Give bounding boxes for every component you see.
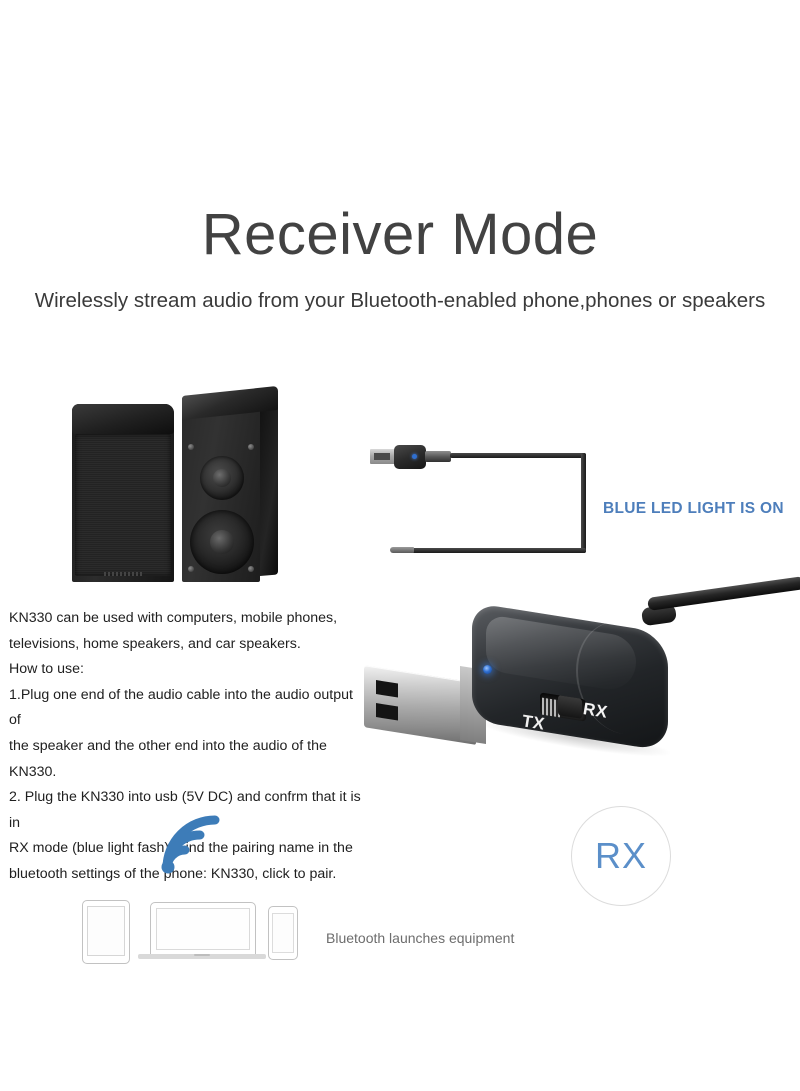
mini-led-indicator (412, 454, 417, 459)
rx-mode-badge: RX (571, 806, 671, 906)
page-title: Receiver Mode (0, 206, 800, 264)
speaker-grille (75, 434, 171, 576)
instruction-line: the speaker and the other end into the a… (9, 734, 365, 785)
cable-strain-relief (425, 451, 451, 462)
laptop-base-notch (194, 954, 210, 956)
instruction-line: televisions, home speakers, and car spea… (9, 632, 365, 658)
attached-cable (647, 576, 800, 611)
speaker-brand-logo (104, 572, 142, 576)
devices-caption: Bluetooth launches equipment (326, 930, 514, 946)
speaker-side-panel (260, 402, 278, 576)
speaker-front-baffle (182, 410, 260, 582)
cable-segment-top (450, 453, 586, 458)
tweeter-driver (200, 456, 244, 500)
mini-usb-connector (370, 449, 396, 464)
smartphone-outline-icon (268, 906, 298, 960)
cable-segment-bottom (410, 548, 586, 553)
audio-cable-assembly (368, 440, 598, 565)
wifi-signal-icon (155, 808, 247, 880)
tablet-outline-icon (82, 900, 130, 964)
blue-led-indicator (483, 665, 492, 674)
instruction-line: 1.Plug one end of the audio cable into t… (9, 683, 365, 734)
baffle-screw (188, 444, 194, 450)
rx-badge-label: RX (595, 838, 647, 874)
rx-mode-label: RX (582, 699, 609, 723)
page-subtitle: Wirelessly stream audio from your Blueto… (0, 291, 800, 312)
audio-jack-tip (390, 547, 414, 553)
usb-bluetooth-adapter (360, 588, 800, 788)
woofer-driver (190, 510, 254, 574)
baffle-screw (248, 444, 254, 450)
speaker-right-drivers (182, 396, 278, 582)
speakers-illustration (72, 396, 312, 586)
mini-dongle-body (394, 445, 426, 469)
device-outlines-group (82, 896, 312, 966)
speaker-left-grilled (72, 404, 174, 582)
infographic-page: Receiver Mode Wirelessly stream audio fr… (0, 0, 800, 1091)
instruction-line: KN330 can be used with computers, mobile… (9, 606, 365, 632)
mode-switch-knob[interactable] (558, 695, 582, 719)
instruction-line: How to use: (9, 657, 365, 683)
baffle-screw (248, 566, 254, 572)
cable-segment-right (581, 453, 586, 553)
baffle-screw (188, 566, 194, 572)
led-status-label: BLUE LED LIGHT IS ON (603, 500, 784, 518)
tx-mode-label: TX (521, 711, 547, 734)
laptop-outline-icon (150, 902, 256, 956)
